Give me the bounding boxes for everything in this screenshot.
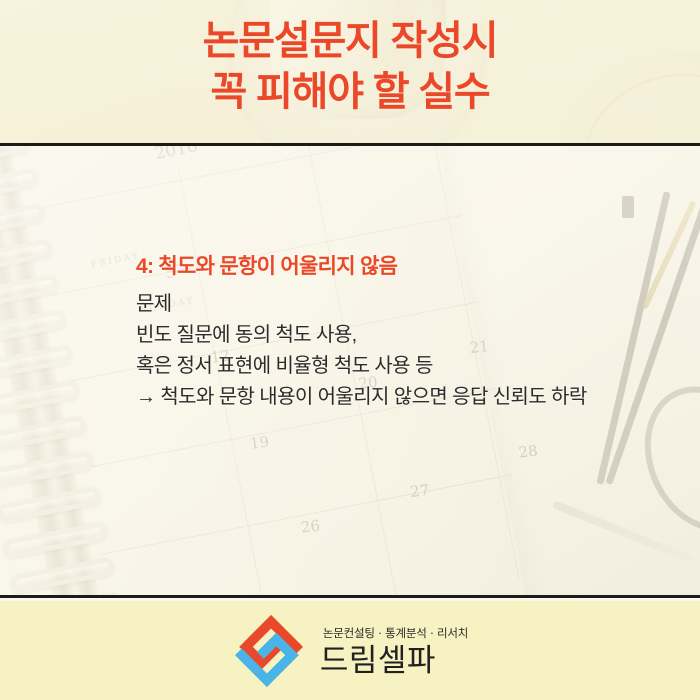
dreamselpa-logo-icon[interactable] (232, 614, 306, 688)
brand-name: 드림셀파 (320, 643, 468, 679)
page-title: 논문설문지 작성시 꼭 피해야 할 실수 (0, 16, 700, 118)
body-line-3: 혹은 정서 표현에 비율형 척도 사용 등 (136, 351, 688, 382)
body-line-2: 빈도 질문에 동의 척도 사용, (136, 320, 688, 351)
main-content: 2016 FRIDAY SUNDAY NOTES 5 12 19 20 21 2… (0, 146, 700, 598)
body-line-4: → 척도와 문항 내용이 어울리지 않으면 응답 신뢰도 하락 (136, 382, 688, 413)
section-heading: 4: 척도와 문항이 어울리지 않음 (136, 252, 688, 282)
card-news: 논문설문지 작성시 꼭 피해야 할 실수 2016 FRIDAY SUNDAY … (0, 0, 700, 700)
header-banner: 논문설문지 작성시 꼭 피해야 할 실수 (0, 0, 700, 146)
footer-bar: 논문컨설팅 · 통계분석 · 리서치 드림셀파 (0, 601, 700, 700)
body-line-1: 문제 (136, 289, 688, 320)
brand-tagline: 논문컨설팅 · 통계분석 · 리서치 (320, 625, 468, 641)
body-copy: 4: 척도와 문항이 어울리지 않음 문제 빈도 질문에 동의 척도 사용, 혹… (136, 252, 688, 413)
